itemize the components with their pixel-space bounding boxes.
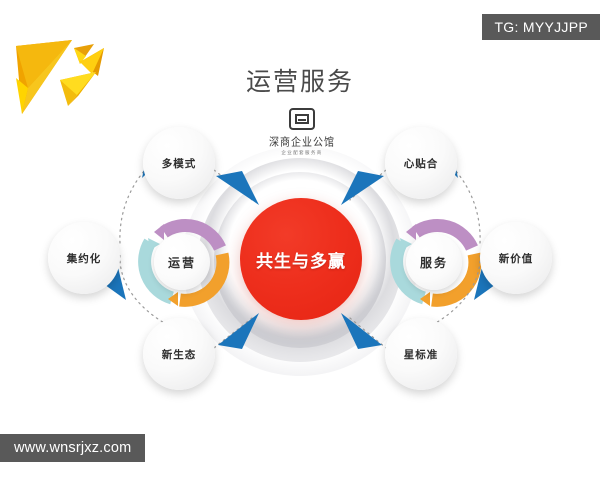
- seal-emblem-icon: [289, 108, 315, 130]
- satellite-xinjiazhi-label: 新价值: [499, 251, 534, 266]
- ring-node-left-label: 运营: [168, 254, 196, 271]
- satellite-xinjiazhi[interactable]: 新价值: [480, 222, 552, 294]
- satellite-xintiehe-label: 心贴合: [404, 156, 439, 171]
- center-label: 共生与多赢: [256, 247, 346, 272]
- satellite-xingbiaozhun-label: 星标准: [404, 347, 439, 362]
- satellite-xintiehe[interactable]: 心贴合: [385, 127, 457, 199]
- satellite-jiyuehua[interactable]: 集约化: [48, 222, 120, 294]
- satellite-xinshengtai-label: 新生态: [162, 347, 197, 362]
- satellite-xingbiaozhun[interactable]: 星标准: [385, 318, 457, 390]
- ring-node-right-disc: 服务: [406, 234, 462, 290]
- satellite-duomoshi-label: 多模式: [162, 156, 197, 171]
- ring-node-left-disc: 运营: [154, 234, 210, 290]
- url-watermark-badge: www.wnsrjxz.com: [0, 434, 145, 462]
- diagram-canvas: 运营服务 深商企业公馆 企业配套服务商: [0, 0, 600, 480]
- page-title: 运营服务: [0, 62, 600, 98]
- center-node[interactable]: 共生与多赢: [240, 198, 362, 320]
- satellite-xinshengtai[interactable]: 新生态: [143, 318, 215, 390]
- satellite-jiyuehua-label: 集约化: [67, 251, 102, 266]
- ring-node-right-label: 服务: [420, 254, 448, 271]
- tg-watermark-badge: TG: MYYJJPP: [482, 14, 600, 40]
- ring-node-right[interactable]: 服务: [386, 214, 482, 310]
- satellite-duomoshi[interactable]: 多模式: [143, 127, 215, 199]
- ring-node-left[interactable]: 运营: [134, 214, 230, 310]
